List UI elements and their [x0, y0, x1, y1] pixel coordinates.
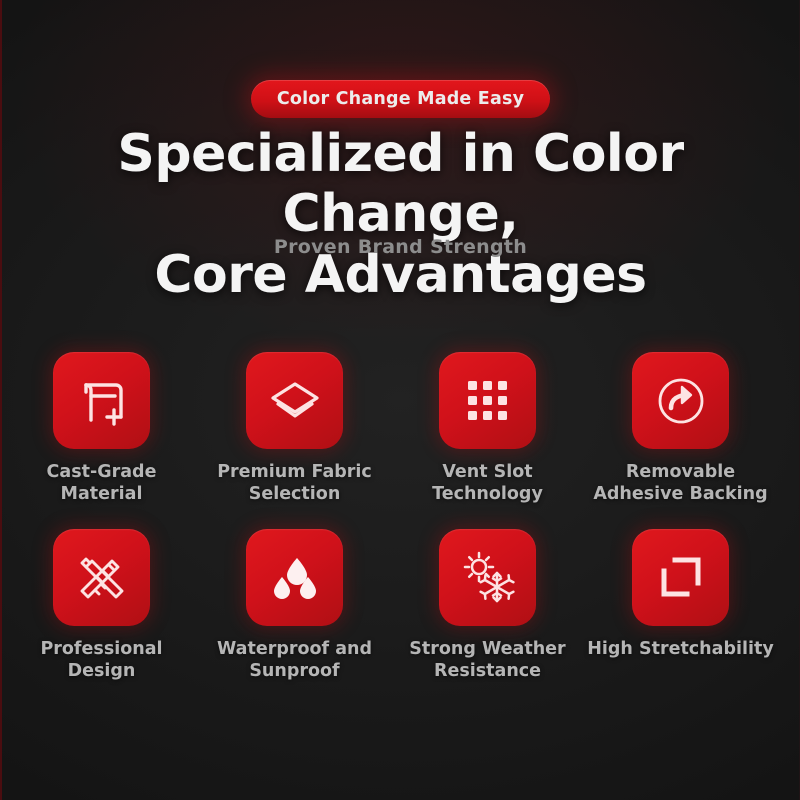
feature-item-high-stretchability: High Stretchability — [587, 529, 774, 683]
badge-container: Color Change Made Easy — [2, 80, 799, 118]
layers-icon — [266, 372, 324, 430]
feature-icon-tile — [246, 529, 343, 626]
feature-label: Vent Slot Technology — [400, 461, 575, 506]
feature-item-removable-adhesive-backing: Removable Adhesive Backing — [587, 352, 774, 506]
feature-item-vent-slot-technology: Vent Slot Technology — [394, 352, 581, 506]
badge-pill: Color Change Made Easy — [251, 80, 550, 118]
feature-icon-tile — [53, 352, 150, 449]
page-subtitle: Proven Brand Strength — [2, 236, 799, 258]
dot-grid-icon — [462, 375, 514, 427]
water-droplets-icon — [266, 548, 324, 606]
feature-item-premium-fabric-selection: Premium Fabric Selection — [201, 352, 388, 506]
feature-icon-tile — [246, 352, 343, 449]
feature-icon-tile — [439, 529, 536, 626]
sun-snowflake-icon — [459, 548, 517, 606]
feature-label: Premium Fabric Selection — [207, 461, 382, 506]
feature-item-strong-weather-resistance: Strong Weather Resistance — [394, 529, 581, 683]
feature-item-waterproof-and-sunproof: Waterproof and Sunproof — [201, 529, 388, 683]
page-title: Specialized in Color Change, Core Advant… — [2, 124, 799, 305]
feature-label: High Stretchability — [581, 638, 781, 660]
feature-grid: Cast-Grade Material Premium Fabric Selec… — [2, 352, 800, 683]
feature-icon-tile — [632, 352, 729, 449]
expand-corners-icon — [653, 549, 709, 605]
circular-redo-arrow-icon — [652, 372, 710, 430]
feature-icon-tile — [632, 529, 729, 626]
feature-label: Strong Weather Resistance — [400, 638, 575, 683]
vinyl-roll-plus-icon — [73, 372, 131, 430]
pencil-ruler-icon — [73, 548, 131, 606]
headline-line-1: Specialized in Color Change, — [117, 124, 683, 244]
feature-label: Professional Design — [14, 638, 189, 683]
feature-label: Waterproof and Sunproof — [195, 638, 395, 683]
feature-item-cast-grade-material: Cast-Grade Material — [8, 352, 195, 506]
promo-poster: Color Change Made Easy Specialized in Co… — [0, 0, 800, 800]
feature-label: Removable Adhesive Backing — [593, 461, 768, 506]
feature-item-professional-design: Professional Design — [8, 529, 195, 683]
feature-icon-tile — [53, 529, 150, 626]
feature-label: Cast-Grade Material — [14, 461, 189, 506]
feature-icon-tile — [439, 352, 536, 449]
